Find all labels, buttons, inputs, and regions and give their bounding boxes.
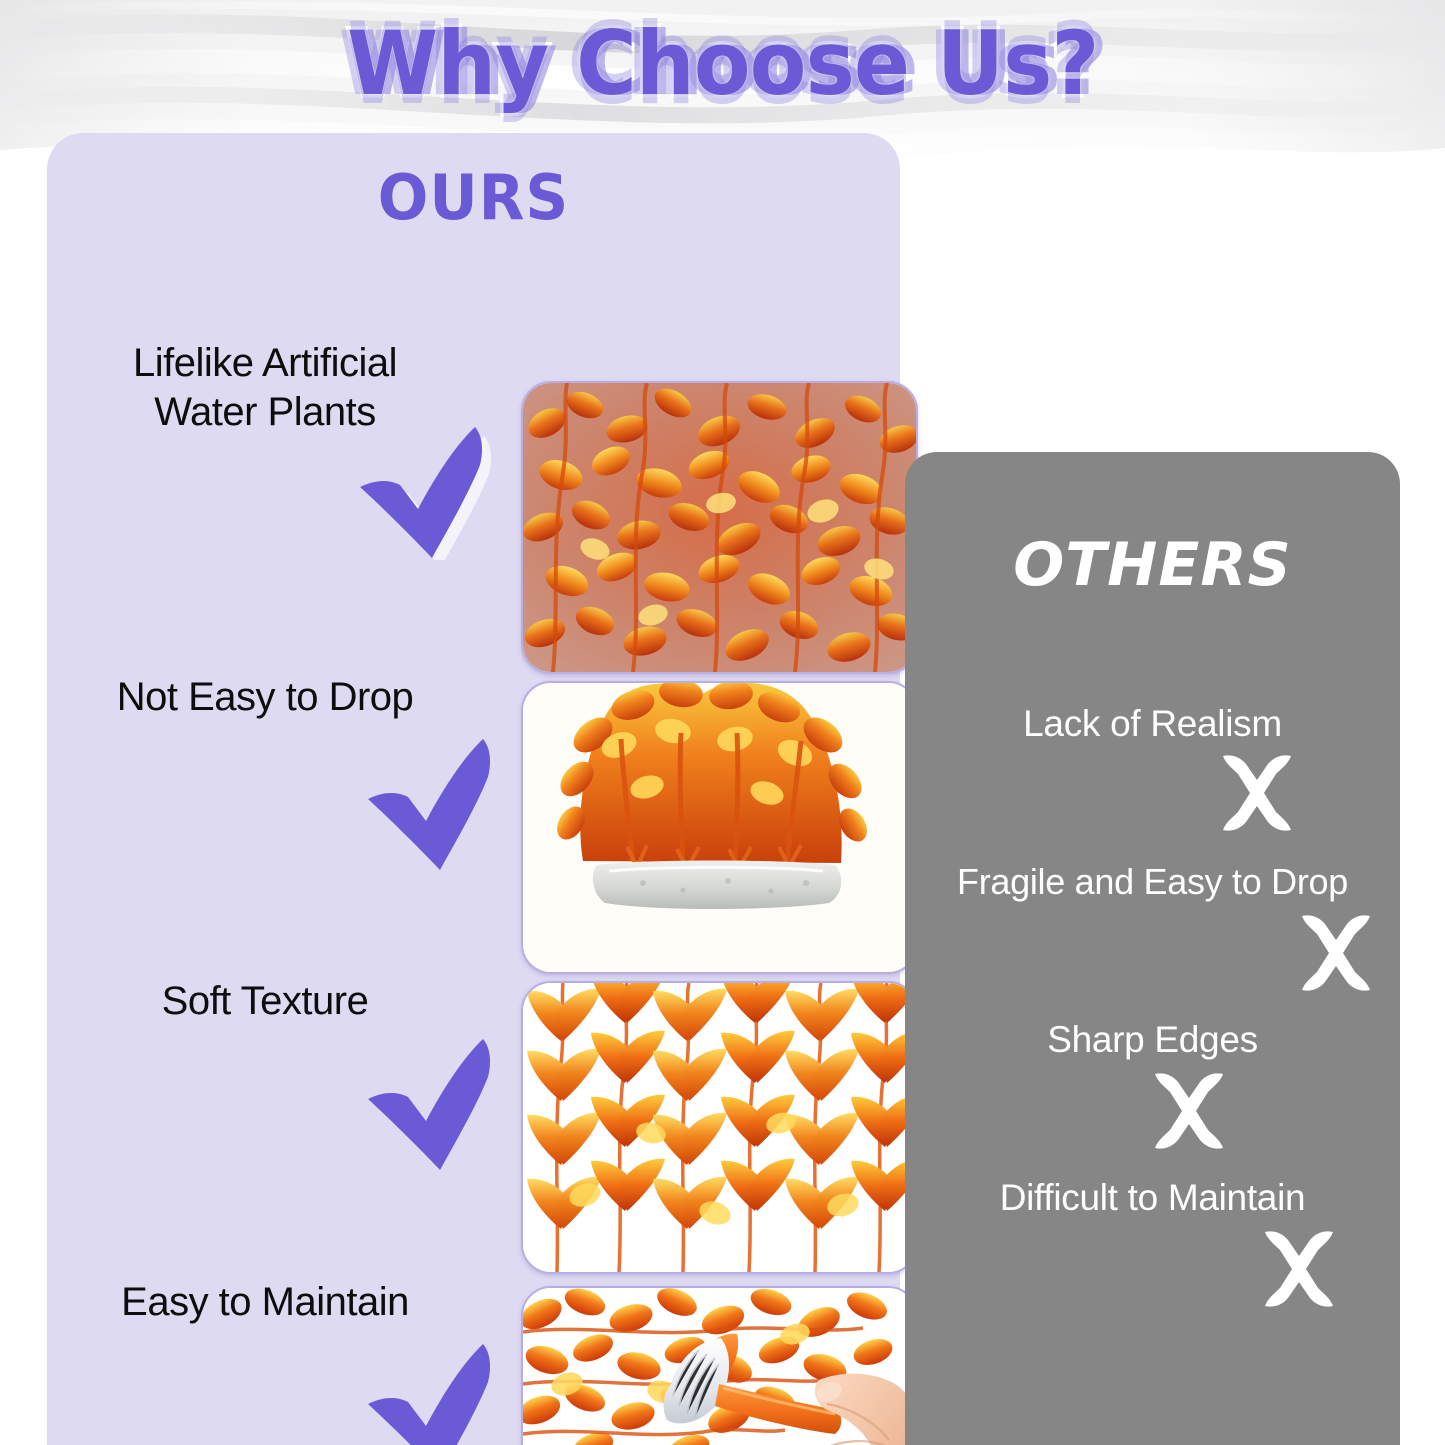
x-mark-icon [1148,1070,1230,1152]
others-feature-row: Difficult to Maintain [905,1176,1400,1336]
x-mark-icon [1295,912,1377,994]
others-feature-label: Sharp Edges [905,1018,1400,1062]
infographic-root: Why Choose Us? OURS Lifelike Artificial … [0,0,1445,1445]
others-feature-label: Lack of Realism [905,702,1400,746]
ours-feature-label-line1: Not Easy to Drop [70,673,460,722]
ours-panel: OURS Lifelike Artificial Water Plants No… [47,133,900,1445]
others-feature-label: Difficult to Maintain [905,1176,1400,1220]
ours-feature-label: Lifelike Artificial Water Plants [70,339,460,437]
ours-feature-label: Not Easy to Drop [70,673,460,722]
check-mark-icon [352,1342,500,1445]
others-heading: OTHERS [905,530,1400,600]
others-panel: OTHERS Lack of Realism Fragile and Easy … [905,452,1400,1445]
ours-feature-label-line1: Lifelike Artificial [70,339,460,388]
others-feature-row: Lack of Realism [905,702,1400,862]
ours-feature-label-line1: Soft Texture [70,977,460,1026]
x-mark-icon [1216,752,1298,834]
others-feature-row: Fragile and Easy to Drop [905,860,1400,1020]
others-feature-row: Sharp Edges [905,1018,1400,1178]
product-image-dense-plants [521,381,918,674]
check-mark-icon [344,425,492,560]
ours-feature-label-line1: Easy to Maintain [70,1278,460,1327]
product-image-soft-texture [521,981,918,1274]
x-mark-icon [1258,1228,1340,1310]
others-feature-label: Fragile and Easy to Drop [905,860,1400,903]
product-image-hand-brushing [521,1286,918,1445]
ours-feature-label: Soft Texture [70,977,460,1026]
ours-feature-label: Easy to Maintain [70,1278,460,1327]
ours-heading: OURS [64,161,883,234]
product-image-plant-with-base [521,681,918,974]
